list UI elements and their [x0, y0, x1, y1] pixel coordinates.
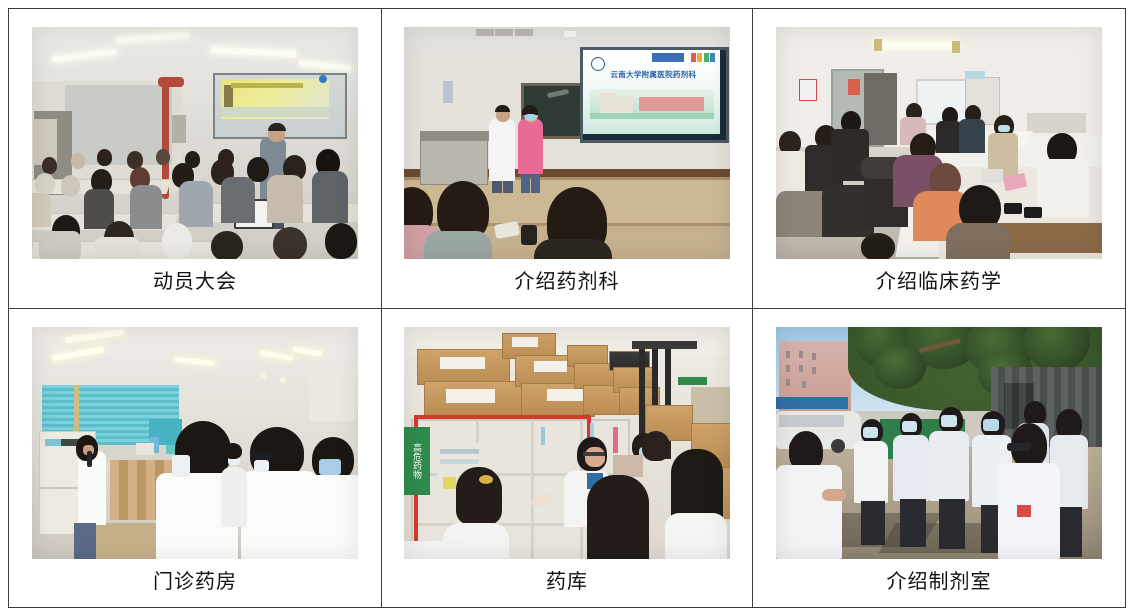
- photo-caption-2: 介绍药剂科: [382, 259, 752, 308]
- photo-grid-page: 动员大会: [0, 0, 1130, 616]
- photo-cell-5: 高危药物: [382, 308, 753, 608]
- preparation-room-intro-photo: [776, 327, 1102, 559]
- clinical-pharmacy-intro-photo: [776, 27, 1102, 259]
- pharmacy-department-intro-photo: 云南大学附属医院药剂科: [404, 27, 730, 259]
- photo-cell-2: 云南大学附属医院药剂科: [382, 9, 753, 309]
- photo-row-top: 动员大会: [9, 9, 1126, 309]
- photo-row-bottom: 门诊药房: [9, 308, 1126, 608]
- slide-title-text: 云南大学附属医院药剂科: [595, 69, 712, 80]
- photo-cell-6: 介绍制剂室: [753, 308, 1126, 608]
- photo-cell-4: 门诊药房: [9, 308, 382, 608]
- photo-caption-1: 动员大会: [9, 259, 381, 308]
- photo-grid-table: 动员大会: [8, 8, 1126, 608]
- photo-caption-4: 门诊药房: [9, 559, 381, 608]
- photo-caption-6: 介绍制剂室: [753, 559, 1125, 608]
- photo-cell-1: 动员大会: [9, 9, 382, 309]
- outpatient-pharmacy-photo: [32, 327, 358, 559]
- photo-caption-5: 药库: [382, 559, 752, 608]
- mobilization-meeting-photo: [32, 27, 358, 259]
- drug-warehouse-photo: 高危药物: [404, 327, 730, 559]
- photo-cell-3: 介绍临床药学: [753, 9, 1126, 309]
- high-risk-drug-sign: 高危药物: [404, 427, 430, 495]
- photo-caption-3: 介绍临床药学: [753, 259, 1125, 308]
